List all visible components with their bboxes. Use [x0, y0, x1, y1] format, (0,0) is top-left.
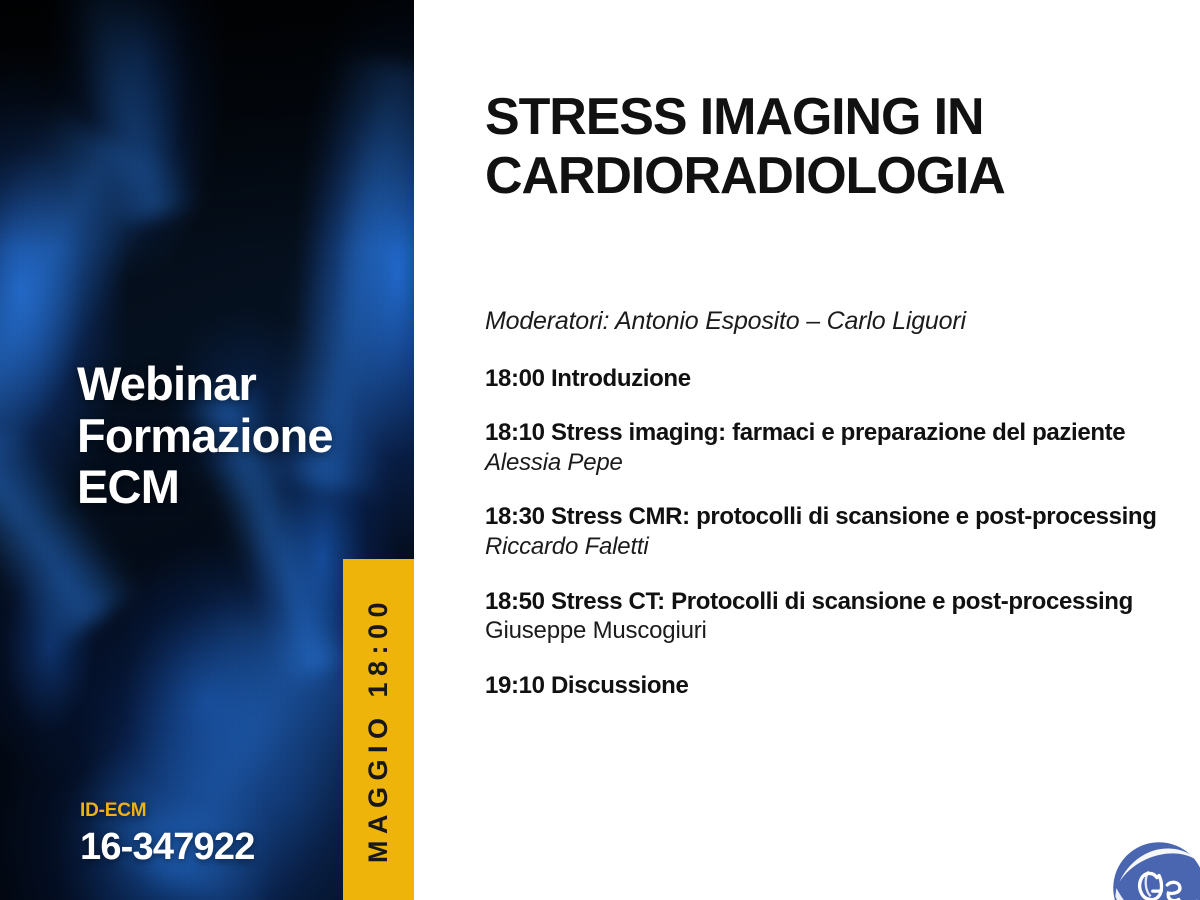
program-item-heading: 18:30 Stress CMR: protocolli di scansion…: [485, 503, 1185, 531]
program-item: 18:50 Stress CT: Protocolli di scansione…: [485, 588, 1185, 646]
ge-monogram-logo: [1107, 836, 1200, 900]
program-item-heading: 18:10 Stress imaging: farmaci e preparaz…: [485, 419, 1185, 447]
page-title: STRESS IMAGING IN CARDIORADIOLOGIA: [485, 88, 1145, 207]
moderators-line: Moderatori: Antonio Esposito – Carlo Lig…: [485, 306, 1165, 337]
webinar-poster: Webinar Formazione ECM ID-ECM 16-347922 …: [0, 0, 1200, 900]
mri-top-shade-overlay: [0, 0, 414, 250]
program-item-speaker: Giuseppe Muscogiuri: [485, 617, 1185, 646]
main-content-panel: STRESS IMAGING IN CARDIORADIOLOGIA Moder…: [414, 0, 1200, 900]
program-item: 18:00 Introduzione: [485, 365, 1185, 393]
program-item-speaker: Riccardo Faletti: [485, 533, 1185, 562]
program-item-heading: 18:00 Introduzione: [485, 365, 1185, 393]
webinar-headline-line-3: ECM: [77, 461, 397, 513]
webinar-headline: Webinar Formazione ECM: [77, 358, 397, 513]
date-time-bar: MAGGIO 18:00: [343, 559, 414, 900]
program-item-heading: 18:50 Stress CT: Protocolli di scansione…: [485, 588, 1185, 616]
webinar-headline-line-2: Formazione: [77, 410, 397, 462]
date-time-bar-label: MAGGIO 18:00: [363, 596, 394, 863]
program-item: 19:10 Discussione: [485, 672, 1185, 700]
program-item: 18:10 Stress imaging: farmaci e preparaz…: [485, 419, 1185, 477]
program-item: 18:30 Stress CMR: protocolli di scansion…: [485, 503, 1185, 561]
program-schedule-list: 18:00 Introduzione18:10 Stress imaging: …: [485, 365, 1185, 700]
webinar-headline-line-1: Webinar: [77, 358, 397, 410]
program-item-heading: 19:10 Discussione: [485, 672, 1185, 700]
id-ecm-block: ID-ECM 16-347922: [80, 800, 255, 870]
id-ecm-label: ID-ECM: [80, 800, 255, 823]
id-ecm-value: 16-347922: [80, 825, 255, 870]
program-item-speaker: Alessia Pepe: [485, 449, 1185, 478]
